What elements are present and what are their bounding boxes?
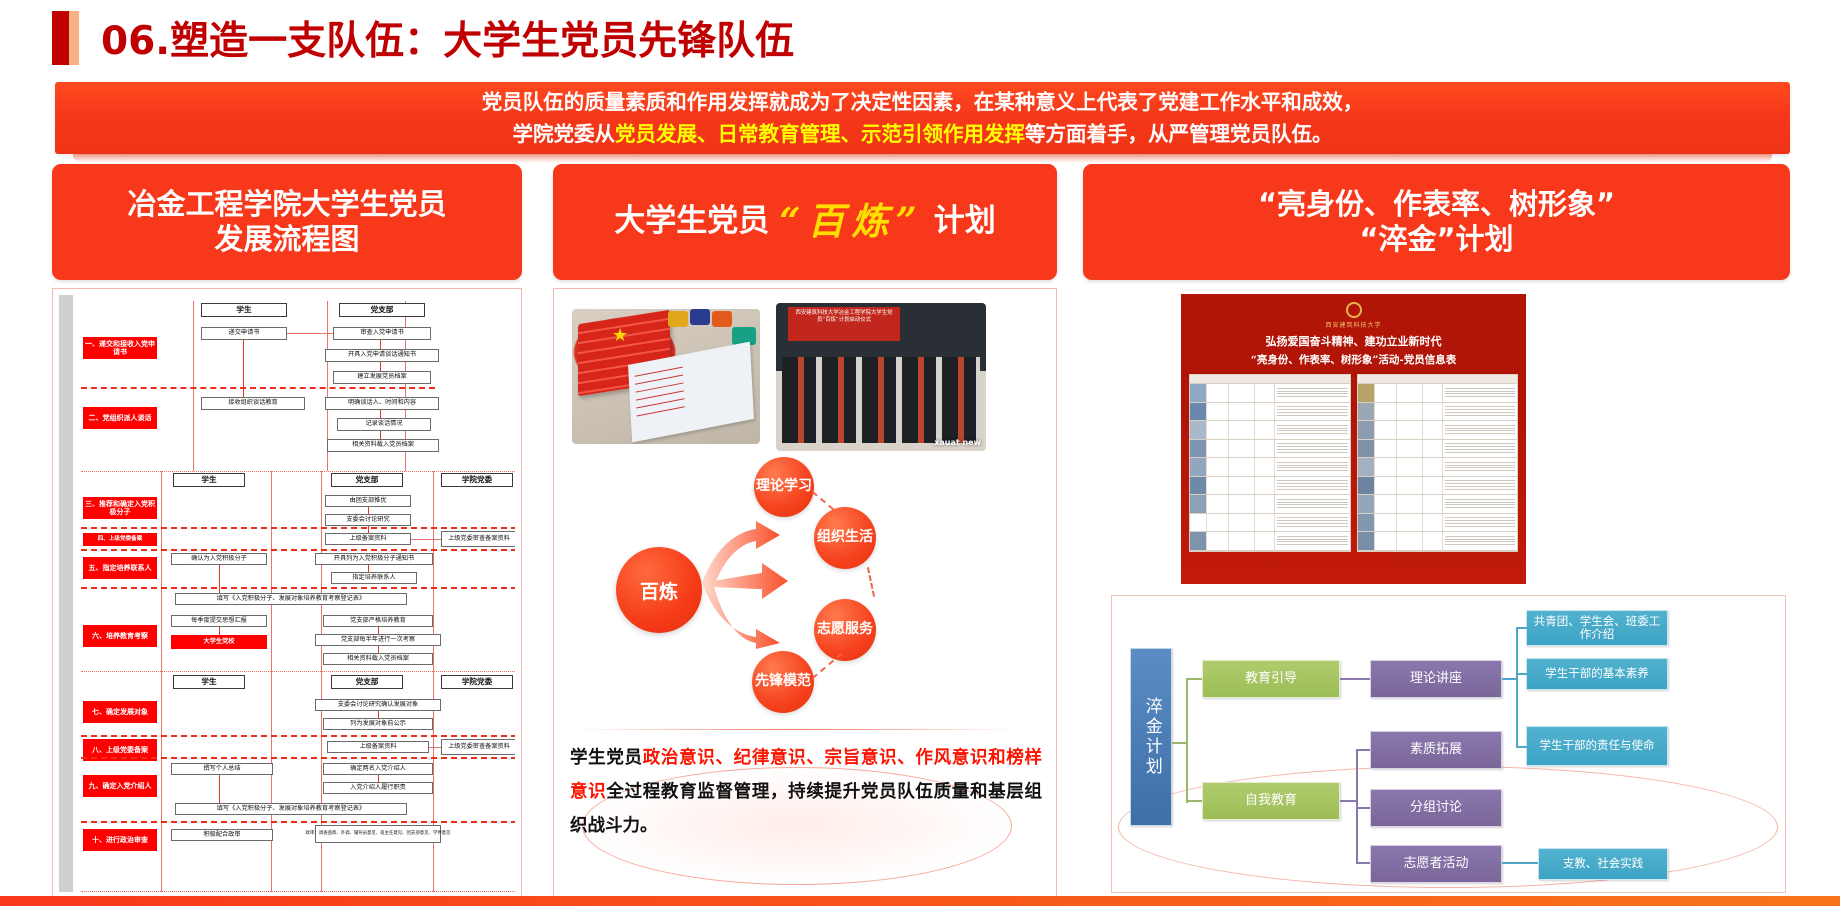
card-cuijin-plan: “亮身份、作表率、树形象” “淬金”计划 西安建筑科技大学 弘扬爱国奋斗精神、建… <box>1083 164 1790 899</box>
flow-node: 递交申请书 <box>201 327 287 340</box>
table-row <box>1358 384 1518 403</box>
title-accent-bar <box>52 11 79 65</box>
table-row <box>1358 403 1518 422</box>
bailian-arrow-fan <box>700 521 790 651</box>
cuijin-level2-node-1: 素质拓展 <box>1370 731 1502 769</box>
card2-caption: 学生党员政治意识、纪律意识、宗旨意识、作风意识和榜样意识全过程教育监督管理，持续… <box>570 741 1042 843</box>
poster-heading-2: “亮身份、作表率、树形象”活动-党员信息表 <box>1189 352 1518 367</box>
table-row <box>1358 421 1518 440</box>
flow-node: 上级备案资料 <box>325 533 411 545</box>
flow-node: 大学生党校 <box>171 635 267 649</box>
caption-seg3: 全过程教育监督管理，持续提升党员队伍质量和基层组织战斗力。 <box>570 782 1042 836</box>
card3-header: “亮身份、作表率、树形象” “淬金”计划 <box>1083 164 1790 280</box>
table-row <box>1190 384 1350 403</box>
flow-node: 开具列为入党积极分子通知书 <box>315 553 433 565</box>
poster-university: 西安建筑科技大学 <box>1189 320 1518 329</box>
photo-watermark: xauat new <box>934 438 981 447</box>
flow-node: 相关资料载入党员档案 <box>327 439 439 452</box>
table-row <box>1190 421 1350 440</box>
flow-node: 审查入党申请书 <box>333 327 431 340</box>
flow-col-header: 学院党委 <box>441 473 513 487</box>
flow-node: 上级党委审查备案资料 <box>441 531 515 547</box>
flow-node: 上级备案资料 <box>327 741 429 753</box>
poster-heading-1: 弘扬爱国奋斗精神、建功立业新时代 <box>1189 333 1518 349</box>
card2-title-post: 计划 <box>934 203 996 241</box>
poster-party-member-info: 西安建筑科技大学 弘扬爱国奋斗精神、建功立业新时代 “亮身份、作表率、树形象”活… <box>1181 294 1526 584</box>
flow-node: 建立发展党员档案 <box>333 371 431 384</box>
flow-node: 党支部每半年进行一次考察 <box>315 634 441 646</box>
cuijin-diagram: 淬金计划 教育引导 自我教育 理论讲座 素质拓展 分组讨论 志愿者活动 共青团、… <box>1111 595 1786 893</box>
table-row <box>1358 477 1518 496</box>
flow-stage-label: 一、递交和接收入党申请书 <box>83 337 157 359</box>
bailian-link-1-2 <box>867 567 875 597</box>
card2-divider <box>576 729 1016 730</box>
title-text: 06.塑造一支队伍：大学生党员先锋队伍 <box>101 10 794 66</box>
flow-node: 确定两名入党介绍人 <box>323 763 433 775</box>
bailian-node-0: 理论学习 <box>754 457 814 517</box>
flow-node: 政审：调查函寄、外调、辅导员意见、班主任意见、团支部意见、学伴意见 <box>315 825 441 843</box>
card1-title-line2: 发展流程图 <box>127 222 446 257</box>
flow-col-header: 学生 <box>201 303 287 317</box>
flow-stage-label: 二、党组织派人谈话 <box>83 407 157 429</box>
flow-col-header: 学院党委 <box>441 675 513 689</box>
poster-table-column <box>1357 374 1519 552</box>
flow-node: 记录谈话情况 <box>337 418 431 431</box>
flow-col-header: 学生 <box>173 675 245 689</box>
flow-col-header: 党支部 <box>331 675 403 689</box>
flow-stage-label: 六、培养教育考察 <box>83 625 157 647</box>
card2-title-pre: 大学生党员 <box>614 203 769 241</box>
flow-node: 党支部严格培养教育 <box>323 615 433 627</box>
flow-node: 由团支部推优 <box>325 495 411 507</box>
bailian-node-3: 先锋模范 <box>752 651 814 713</box>
table-row <box>1190 532 1350 551</box>
flow-node: 填写《入党积极分子、发展对象培养教育考察登记表》 <box>175 803 407 815</box>
banner-line2-post: 等方面着手，从严管理党员队伍。 <box>1025 122 1333 146</box>
cuijin-level1-node-0: 教育引导 <box>1202 660 1340 698</box>
flow-node: 明确谈话人、时间和内容 <box>325 397 439 410</box>
flow-col-header: 党支部 <box>331 473 403 487</box>
card2-title: 大学生党员 “百炼” 计划 <box>614 199 996 244</box>
banner-line-2: 学院党委从党员发展、日常教育管理、示范引领作用发挥等方面着手，从严管理党员队伍。 <box>513 118 1333 150</box>
table-row <box>1358 532 1518 551</box>
flow-stage-label: 十、进行政治审查 <box>83 829 157 851</box>
flow-stage-label: 五、指定培养联系人 <box>83 557 157 579</box>
flow-node: 撰写个人总结 <box>171 763 273 775</box>
cuijin-level2-node-0: 理论讲座 <box>1370 660 1502 698</box>
card-party-development-flow: 冶金工程学院大学生党员 发展流程图 学生 党支部 <box>52 164 522 899</box>
flow-node: 支委会讨论研究确认发展对象 <box>315 699 441 711</box>
flow-node: 积极配合政审 <box>171 829 273 841</box>
bottom-accent-strip <box>0 896 1840 906</box>
table-row <box>1190 514 1350 533</box>
flow-node: 列为发展对象前公示 <box>323 718 433 730</box>
flow-node: 填写《入党积极分子、发展对象培养教育考察登记表》 <box>175 593 407 605</box>
cuijin-level3-node-2: 学生干部的责任与使命 <box>1526 726 1668 766</box>
card-bailian-plan: 大学生党员 “百炼” 计划 ★ 西安建筑科技大学冶金工程学院大学生党员“百炼”计… <box>553 164 1057 899</box>
banner-line-1: 党员队伍的质量素质和作用发挥就成为了决定性因素，在某种意义上代表了党建工作水平和… <box>482 86 1364 118</box>
card3-title: “亮身份、作表率、树形象” “淬金”计划 <box>1258 187 1615 258</box>
flow-node: 上级党委审查备案资料 <box>441 739 515 755</box>
flow-stage-label: 九、确定入党介绍人 <box>83 775 157 797</box>
card1-body: 学生 党支部 递交申请书 审查入党申请书 开具入党申请谈话通知书 建立发展党员档… <box>52 288 522 899</box>
card2-header: 大学生党员 “百炼” 计划 <box>553 164 1057 280</box>
table-row <box>1358 440 1518 459</box>
bailian-diagram: 百炼 理论学习 组织生活 志愿服务 先锋模范 <box>564 459 1048 714</box>
table-row <box>1190 403 1350 422</box>
card2-body: ★ 西安建筑科技大学冶金工程学院大学生党员“百炼”计划启动仪式 xauat ne… <box>553 288 1057 899</box>
poster-table-column <box>1189 374 1351 552</box>
banner-line2-pre: 学院党委从 <box>513 122 616 146</box>
card1-header: 冶金工程学院大学生党员 发展流程图 <box>52 164 522 280</box>
card2-title-brush: “百炼” <box>779 199 924 244</box>
flow-node: 入党介绍人履行职责 <box>323 782 433 794</box>
flow-stage-label: 四、上级党委备案 <box>83 533 157 546</box>
card1-title-line1: 冶金工程学院大学生党员 <box>127 187 446 222</box>
photo-party-certificates: ★ <box>572 309 760 444</box>
flowchart-canvas: 学生 党支部 递交申请书 审查入党申请书 开具入党申请谈话通知书 建立发展党员档… <box>75 295 513 892</box>
flow-node: 每季度提交思想汇报 <box>171 615 267 627</box>
cuijin-level3-node-3: 支教、社会实践 <box>1538 848 1668 880</box>
bailian-node-1: 组织生活 <box>814 507 876 569</box>
table-row <box>1358 514 1518 533</box>
flow-node: 指定培养联系人 <box>331 572 417 584</box>
flow-col-header: 学生 <box>173 473 245 487</box>
cuijin-root-node: 淬金计划 <box>1130 648 1172 826</box>
table-row <box>1190 440 1350 459</box>
cuijin-level2-node-2: 分组讨论 <box>1370 789 1502 827</box>
table-row <box>1190 458 1350 477</box>
table-row <box>1358 458 1518 477</box>
cuijin-level3-node-1: 学生干部的基本素养 <box>1526 658 1668 690</box>
summary-banner: 党员队伍的质量素质和作用发挥就成为了决定性因素，在某种意义上代表了党建工作水平和… <box>55 82 1790 154</box>
flow-node: 开具入党申请谈话通知书 <box>325 349 439 362</box>
card3-body: 西安建筑科技大学 弘扬爱国奋斗精神、建功立业新时代 “亮身份、作表率、树形象”活… <box>1083 288 1790 899</box>
flowchart-image: 学生 党支部 递交申请书 审查入党申请书 开具入党申请谈话通知书 建立发展党员档… <box>59 295 515 892</box>
flow-col-header: 党支部 <box>339 303 425 317</box>
bailian-node-2: 志愿服务 <box>814 599 876 661</box>
flow-stage-label: 七、确定发展对象 <box>83 701 157 723</box>
banner-line2-highlight: 党员发展、日常教育管理、示范引领作用发挥 <box>615 122 1025 146</box>
flow-node: 接收组织谈话教育 <box>201 397 305 410</box>
card3-title-line1: “亮身份、作表率、树形象” <box>1258 187 1615 222</box>
university-logo-icon <box>1346 302 1362 318</box>
flow-node: 支委会讨论研究 <box>325 514 411 526</box>
card3-title-line2: “淬金”计划 <box>1258 222 1615 257</box>
bailian-core-node: 百炼 <box>616 547 702 633</box>
poster-table-grid <box>1189 374 1518 552</box>
bailian-link-2-3 <box>812 653 842 679</box>
flow-stage-label: 三、推荐和确定入党积极分子 <box>83 497 157 519</box>
cuijin-level3-node-0: 共青团、学生会、班委工作介绍 <box>1526 610 1668 646</box>
table-row <box>1190 495 1350 514</box>
flow-node: 相关资料载入党员档案 <box>323 653 433 665</box>
cuijin-level1-node-1: 自我教育 <box>1202 782 1340 820</box>
photo-party-group: 西安建筑科技大学冶金工程学院大学生党员“百炼”计划启动仪式 xauat new <box>776 303 986 451</box>
table-row <box>1190 477 1350 496</box>
page-title: 06.塑造一支队伍：大学生党员先锋队伍 <box>52 10 794 66</box>
table-row <box>1358 495 1518 514</box>
photo-banner-text: 西安建筑科技大学冶金工程学院大学生党员“百炼”计划启动仪式 <box>788 307 900 341</box>
flowchart-scrollbar[interactable] <box>59 295 73 892</box>
cuijin-level2-node-3: 志愿者活动 <box>1370 845 1502 883</box>
flow-node: 确认为入党积极分子 <box>171 553 267 565</box>
caption-seg1: 学生党员 <box>570 748 643 768</box>
card1-title: 冶金工程学院大学生党员 发展流程图 <box>127 187 446 258</box>
